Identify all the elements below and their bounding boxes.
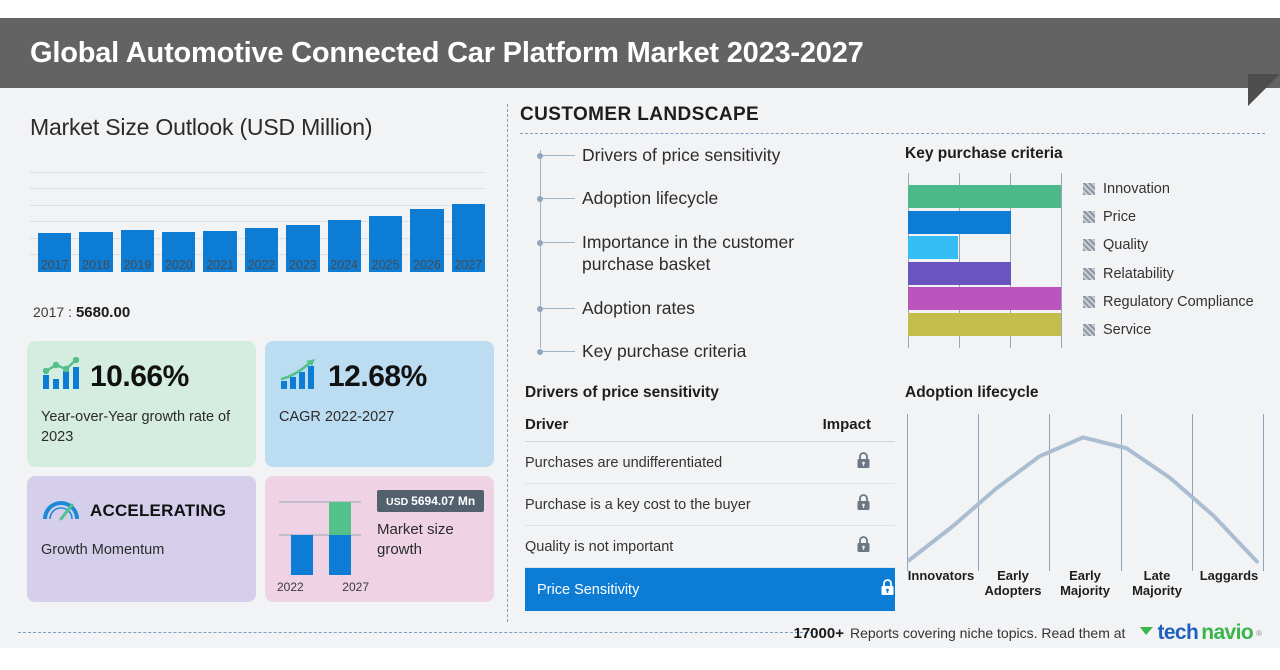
driver-name: Purchase is a key cost to the buyer — [525, 484, 805, 526]
criteria-bar — [908, 287, 1061, 310]
bottom-margin — [0, 648, 1280, 670]
x-axis-label: 2025 — [369, 258, 402, 272]
technavio-mark-icon — [1139, 623, 1154, 643]
legend-swatch-icon — [1083, 324, 1095, 336]
tree-node-dot — [537, 306, 543, 312]
trademark-symbol: ® — [1256, 629, 1262, 638]
x-axis-label: 2023 — [286, 258, 319, 272]
table-row: Quality is not important — [525, 526, 895, 568]
tree-connector — [543, 242, 575, 243]
criteria-bars — [908, 185, 1067, 336]
corner-fold-decoration — [1248, 74, 1280, 106]
tree-connector — [543, 308, 575, 309]
report-count: 17000+ — [793, 625, 843, 642]
table-row-highlighted[interactable]: Price Sensitivity — [525, 568, 895, 612]
criteria-bar — [908, 236, 958, 259]
x-axis-label: 2019 — [121, 258, 154, 272]
growth-caption: Market size growth — [377, 520, 494, 559]
stat-cards: 10.66% Year-over-Year growth rate of 202… — [27, 341, 495, 602]
logo-text-tech: tech — [1157, 621, 1198, 645]
cagr-card: 12.68% CAGR 2022-2027 — [265, 341, 494, 467]
legend-swatch-icon — [1083, 239, 1095, 251]
lock-icon — [805, 442, 895, 484]
column-impact: Impact — [805, 416, 895, 442]
legend-swatch-icon — [1083, 211, 1095, 223]
vertical-divider — [507, 104, 508, 622]
criteria-bar — [908, 185, 1061, 208]
momentum-card-top: ACCELERATING — [41, 492, 242, 529]
legend-label: Price — [1103, 209, 1136, 225]
legend-label: Regulatory Compliance — [1103, 294, 1254, 310]
first-year-value: 2017 :5680.00 — [33, 304, 130, 321]
market-size-title: Market Size Outlook (USD Million) — [0, 96, 500, 141]
first-year-label: 2017 : — [33, 304, 72, 320]
adoption-lifecycle-chart: InnovatorsEarlyAdoptersEarlyMajorityLate… — [905, 414, 1265, 599]
momentum-word: ACCELERATING — [90, 501, 226, 521]
customer-landscape-item-label: Importance in the customer purchase bask… — [582, 231, 822, 276]
key-purchase-criteria-title: Key purchase criteria — [905, 145, 1275, 163]
lifecycle-stage-label: Innovators — [905, 569, 977, 599]
tree-connector — [543, 351, 575, 352]
page-title: Global Automotive Connected Car Platform… — [0, 37, 864, 70]
adoption-lifecycle-panel: Adoption lifecycle InnovatorsEarlyAdopte… — [905, 384, 1270, 599]
technavio-logo[interactable]: technavio® — [1139, 621, 1262, 645]
drivers-title: Drivers of price sensitivity — [525, 384, 895, 402]
gridline — [30, 172, 485, 173]
growth-mini-chart — [277, 490, 369, 582]
logo-text-navio: navio — [1201, 621, 1253, 645]
infographic-page: Global Automotive Connected Car Platform… — [0, 0, 1280, 670]
x-axis-label: 2026 — [410, 258, 443, 272]
customer-landscape-item[interactable]: Importance in the customer purchase bask… — [540, 231, 900, 276]
criteria-bar — [908, 211, 1011, 234]
lock-icon — [805, 484, 895, 526]
drivers-table-header-row: Driver Impact — [525, 416, 895, 442]
tree-node-dot — [537, 153, 543, 159]
usd-amount-badge: USD5694.07 Mn — [377, 490, 484, 512]
yoy-growth-card: 10.66% Year-over-Year growth rate of 202… — [27, 341, 256, 467]
legend-item: Relatability — [1083, 266, 1254, 282]
key-purchase-criteria-body: InnovationPriceQualityRelatabilityRegula… — [905, 173, 1275, 348]
cagr-card-top: 12.68% — [279, 357, 480, 396]
speedometer-icon — [41, 492, 81, 529]
adoption-lifecycle-title: Adoption lifecycle — [905, 384, 1270, 402]
usd-unit: USD — [386, 496, 408, 508]
page-header: Global Automotive Connected Car Platform… — [0, 18, 1280, 88]
customer-landscape-item[interactable]: Adoption rates — [540, 297, 900, 319]
drivers-table: Driver Impact Purchases are undifferenti… — [525, 416, 895, 611]
cagr-label: CAGR 2022-2027 — [279, 408, 480, 428]
legend-label: Innovation — [1103, 181, 1170, 197]
tree-node-dot — [537, 196, 543, 202]
driver-name: Price Sensitivity — [525, 568, 805, 612]
top-margin — [0, 0, 1280, 18]
driver-name: Purchases are undifferentiated — [525, 442, 805, 484]
page-footer: 17000+ Reports covering niche topics. Re… — [793, 620, 1262, 646]
lifecycle-stage-label: Laggards — [1193, 569, 1265, 599]
legend-label: Relatability — [1103, 266, 1174, 282]
driver-name: Quality is not important — [525, 526, 805, 568]
yoy-value: 10.66% — [90, 360, 189, 394]
market-size-bar-chart: 2017201820192020202120222023202420252026… — [30, 172, 485, 272]
lifecycle-labels: InnovatorsEarlyAdoptersEarlyMajorityLate… — [905, 569, 1265, 599]
lifecycle-curve — [905, 414, 1265, 571]
customer-landscape-item[interactable]: Drivers of price sensitivity — [540, 144, 900, 166]
legend-label: Quality — [1103, 237, 1148, 253]
legend-item: Regulatory Compliance — [1083, 294, 1254, 310]
legend-swatch-icon — [1083, 268, 1095, 280]
tree-node-dot — [537, 240, 543, 246]
criteria-bar — [908, 262, 1011, 285]
x-axis-label: 2024 — [328, 258, 361, 272]
legend-label: Service — [1103, 322, 1151, 338]
x-axis-label: 2021 — [203, 258, 236, 272]
lifecycle-stage-label: EarlyMajority — [1049, 569, 1121, 599]
customer-landscape-item-label: Adoption lifecycle — [582, 187, 718, 209]
cagr-value: 12.68% — [328, 360, 427, 394]
yoy-label: Year-over-Year growth rate of 2023 — [41, 408, 242, 447]
key-purchase-criteria-panel: Key purchase criteria InnovationPriceQua… — [905, 145, 1275, 348]
growth-momentum-card: ACCELERATING Growth Momentum — [27, 476, 256, 602]
key-purchase-criteria-chart — [905, 173, 1067, 348]
market-size-growth-card: 2022 2027 USD5694.07 Mn Market size grow… — [265, 476, 494, 602]
customer-landscape-item[interactable]: Key purchase criteria — [540, 340, 900, 362]
growth-year-end: 2027 — [342, 580, 369, 594]
lifecycle-stage-label: LateMajority — [1121, 569, 1193, 599]
momentum-label: Growth Momentum — [41, 541, 242, 561]
x-axis-label: 2020 — [162, 258, 195, 272]
customer-landscape-panel: CUSTOMER LANDSCAPE Drivers of price sens… — [520, 104, 900, 383]
x-axis-label: 2027 — [452, 258, 485, 272]
tree-node-dot — [537, 349, 543, 355]
table-row: Purchases are undifferentiated — [525, 442, 895, 484]
legend-swatch-icon — [1083, 296, 1095, 308]
usd-amount: 5694.07 Mn — [411, 494, 475, 508]
table-row: Purchase is a key cost to the buyer — [525, 484, 895, 526]
lock-icon — [805, 568, 895, 612]
x-axis-label: 2017 — [38, 258, 71, 272]
drivers-panel: Drivers of price sensitivity Driver Impa… — [525, 384, 895, 611]
lifecycle-stage-label: EarlyAdopters — [977, 569, 1049, 599]
tree-connector — [543, 198, 575, 199]
legend-item: Quality — [1083, 237, 1254, 253]
customer-landscape-heading: CUSTOMER LANDSCAPE — [520, 104, 900, 126]
customer-landscape-item-label: Drivers of price sensitivity — [582, 144, 780, 166]
growth-year-start: 2022 — [277, 580, 304, 594]
first-year-number: 5680.00 — [76, 304, 130, 321]
x-axis-label: 2018 — [79, 258, 112, 272]
chart-x-axis-labels: 2017201820192020202120222023202420252026… — [38, 258, 485, 272]
customer-landscape-item[interactable]: Adoption lifecycle — [540, 187, 900, 209]
legend-item: Service — [1083, 322, 1254, 338]
legend-item: Price — [1083, 209, 1254, 225]
key-purchase-criteria-legend: InnovationPriceQualityRelatabilityRegula… — [1083, 173, 1254, 348]
criteria-bar — [908, 313, 1061, 336]
column-driver: Driver — [525, 416, 805, 442]
bar-line-growth-icon — [41, 357, 81, 396]
yoy-card-top: 10.66% — [41, 357, 242, 396]
legend-swatch-icon — [1083, 183, 1095, 195]
legend-item: Innovation — [1083, 181, 1254, 197]
bar-arrow-growth-icon — [279, 357, 319, 396]
customer-landscape-item-label: Key purchase criteria — [582, 340, 746, 362]
x-axis-label: 2022 — [245, 258, 278, 272]
growth-mini-labels: 2022 2027 — [277, 580, 369, 594]
market-size-panel: Market Size Outlook (USD Million) 201720… — [0, 96, 500, 626]
footer-text: Reports covering niche topics. Read them… — [850, 625, 1125, 641]
customer-landscape-item-label: Adoption rates — [582, 297, 695, 319]
tree-connector — [543, 155, 575, 156]
lock-icon — [805, 526, 895, 568]
customer-landscape-list: Drivers of price sensitivityAdoption lif… — [520, 144, 900, 362]
footer-divider — [18, 632, 818, 633]
